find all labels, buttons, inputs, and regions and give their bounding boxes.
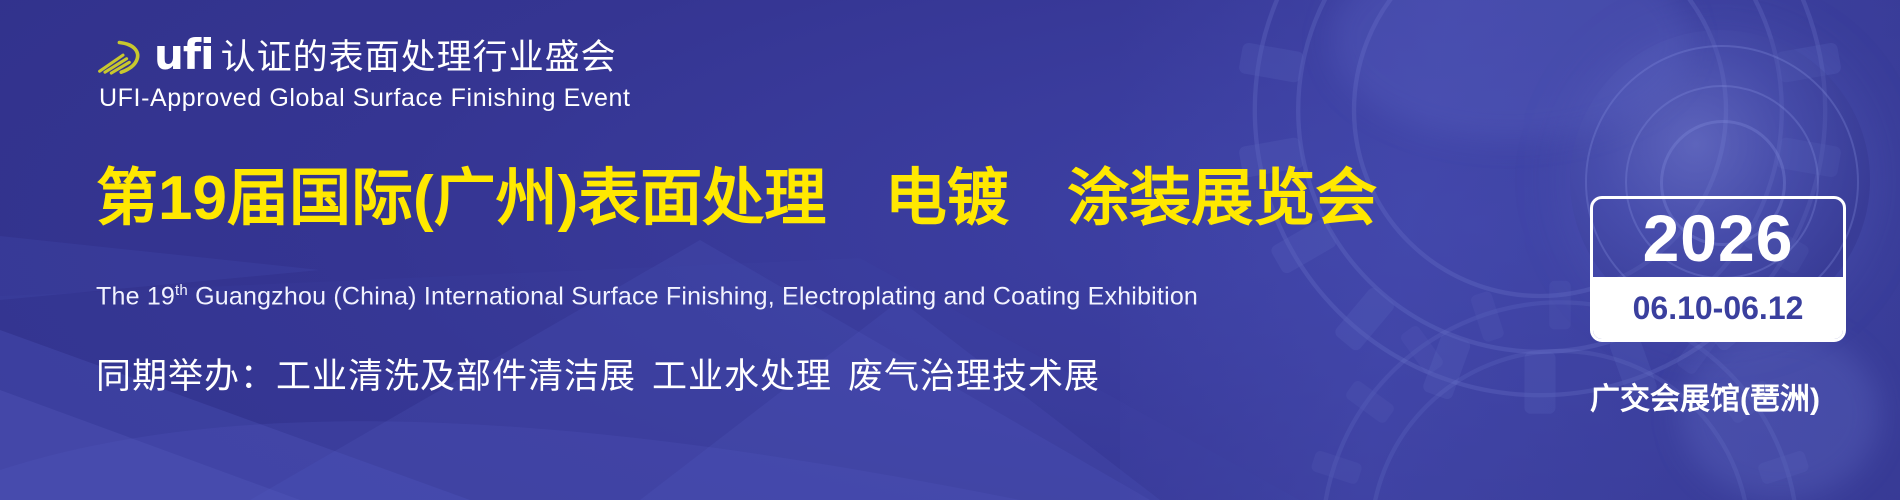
concurrent-event-1: 工业清洗及部件清洁展 (276, 357, 636, 396)
subtitle-prefix: The 19 (96, 282, 175, 310)
headline-part3: 涂装展览会 (1067, 164, 1377, 233)
concurrent-event-3: 废气治理技术展 (848, 357, 1100, 396)
ufi-swoosh-icon (96, 37, 150, 75)
ufi-logo-row: ufi 认证的表面处理行业盛会 (96, 36, 631, 75)
date-range: 06.10-06.12 (1593, 277, 1843, 339)
date-badge: 2026 06.10-06.12 (1590, 196, 1846, 342)
date-year: 2026 (1593, 199, 1843, 277)
subtitle-english: The 19th Guangzhou (China) International… (96, 282, 1198, 311)
concurrent-events-line: 同期举办：工业清洗及部件清洁展工业水处理废气治理技术展 (96, 348, 1100, 399)
subtitle-rest: Guangzhou (China) International Surface … (188, 282, 1198, 310)
page-title: 第19届国际(广州)表面处理 电镀 涂装展览会 (96, 168, 1377, 230)
ufi-en-tagline: UFI-Approved Global Surface Finishing Ev… (99, 84, 631, 113)
ufi-wordmark: ufi (154, 36, 214, 75)
venue-name: 广交会展馆(琶洲) (1590, 374, 1850, 418)
concurrent-event-2: 工业水处理 (652, 357, 832, 396)
event-banner: ufi 认证的表面处理行业盛会 UFI-Approved Global Surf… (0, 0, 1900, 500)
concurrent-label: 同期举办： (96, 357, 276, 396)
ufi-cn-tagline: 认证的表面处理行业盛会 (221, 40, 617, 75)
subtitle-ordinal-suffix: th (175, 282, 188, 299)
headline-part1: 第19届国际(广州)表面处理 (96, 164, 826, 233)
ufi-logo-block: ufi 认证的表面处理行业盛会 UFI-Approved Global Surf… (96, 36, 631, 113)
headline-part2: 电镀 (885, 164, 1009, 233)
